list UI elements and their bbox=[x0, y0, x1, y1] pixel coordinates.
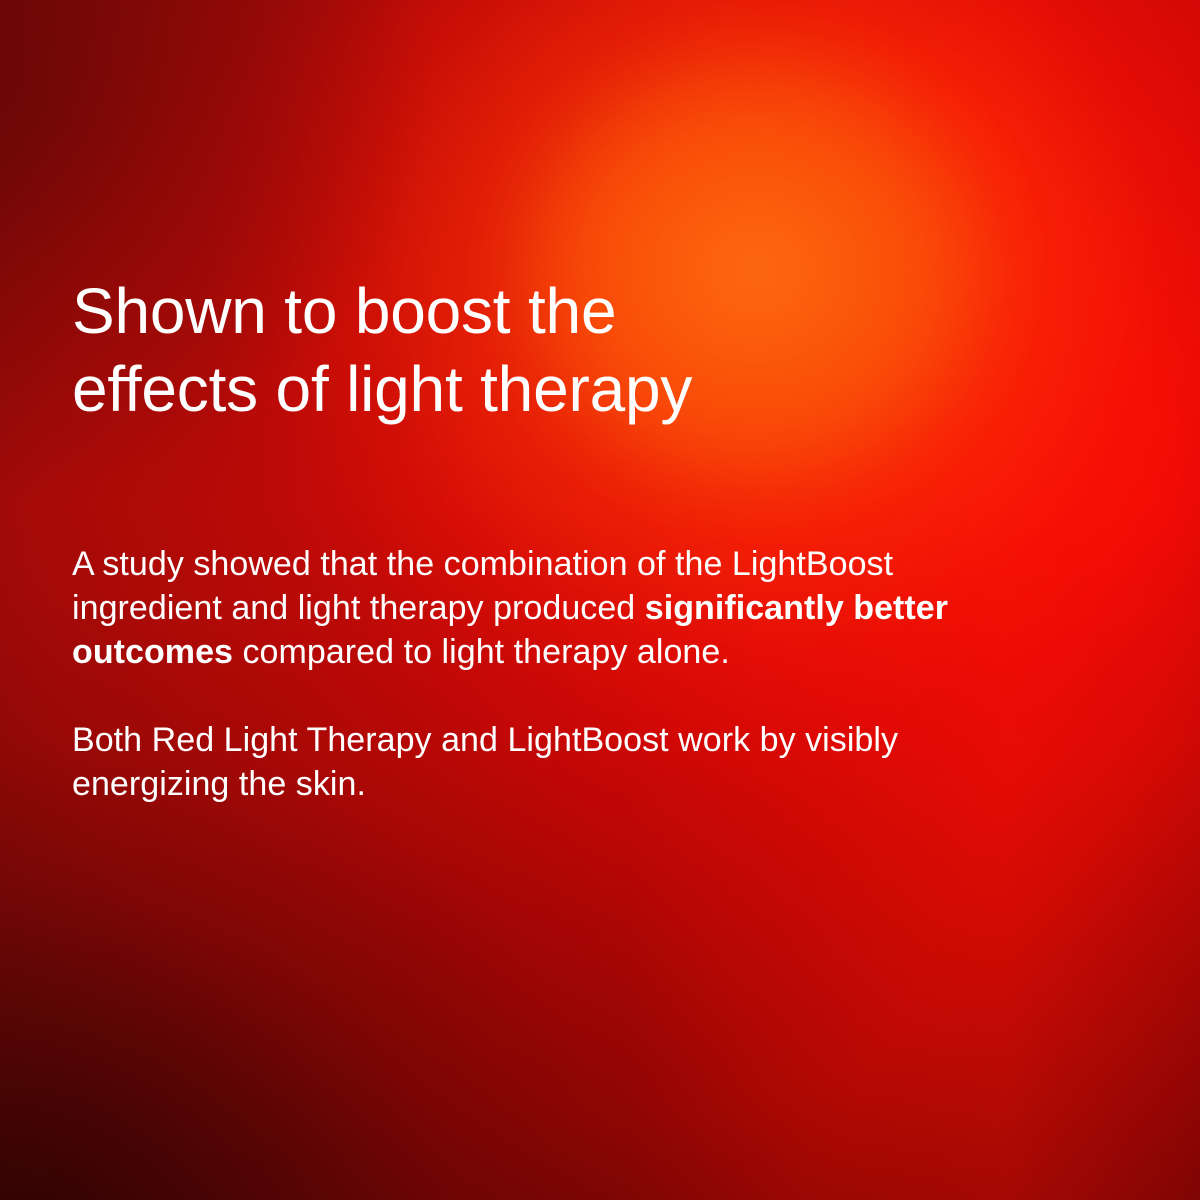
promo-card: Shown to boost the effects of light ther… bbox=[0, 0, 1200, 1200]
paragraph-study-claim: A study showed that the combination of t… bbox=[72, 542, 972, 674]
content-column: Shown to boost the effects of light ther… bbox=[72, 0, 1132, 1200]
paragraph-study-claim-tail: compared to light therapy alone. bbox=[233, 633, 730, 671]
headline: Shown to boost the effects of light ther… bbox=[72, 272, 832, 428]
paragraph-mechanism: Both Red Light Therapy and LightBoost wo… bbox=[72, 718, 972, 806]
body-copy: A study showed that the combination of t… bbox=[72, 542, 972, 806]
